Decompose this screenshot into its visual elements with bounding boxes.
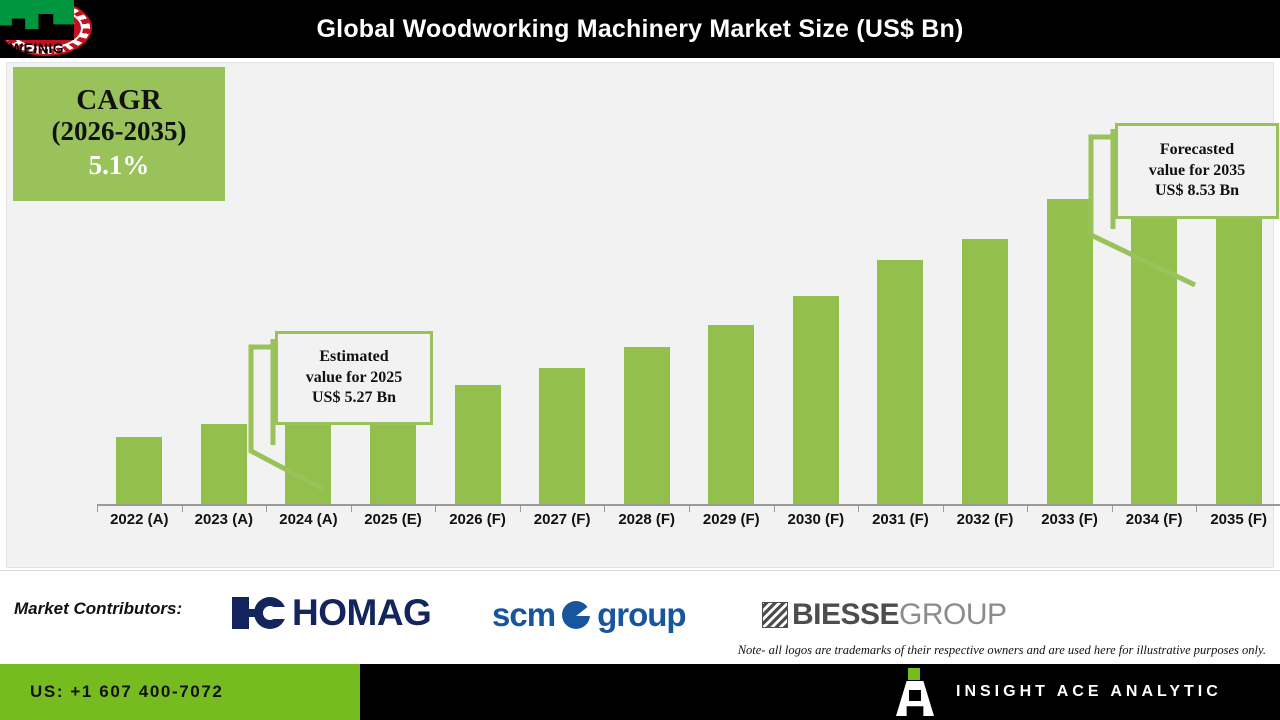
- x-label-2022: 2022 (A): [97, 511, 182, 528]
- weinig-mark-icon: [0, 0, 74, 40]
- callout-estimated-line1: Estimated: [319, 347, 388, 367]
- bar-slot: [266, 63, 351, 504]
- x-label-2027: 2027 (F): [520, 511, 605, 528]
- x-label-2023: 2023 (A): [182, 511, 267, 528]
- callout-forecasted-2035: Forecasted value for 2035 US$ 8.53 Bn: [1115, 123, 1279, 219]
- bar-series: [97, 63, 1280, 504]
- callout-forecasted-line3: US$ 8.53 Bn: [1155, 181, 1239, 201]
- bar-slot: [604, 63, 689, 504]
- footer-brand: INSIGHT ACE ANALYTIC: [956, 683, 1222, 701]
- x-label-2034: 2034 (F): [1112, 511, 1197, 528]
- homag-mark-icon: [232, 597, 286, 629]
- scm-pie-icon: [562, 601, 590, 629]
- x-label-2030: 2030 (F): [774, 511, 859, 528]
- x-label-2035: 2035 (F): [1196, 511, 1280, 528]
- bar-2030[interactable]: [793, 296, 839, 504]
- x-label-2033: 2033 (F): [1027, 511, 1112, 528]
- page-title: Global Woodworking Machinery Market Size…: [317, 15, 964, 44]
- biesse-hatch-icon: [762, 602, 788, 628]
- bar-2026[interactable]: [455, 385, 501, 504]
- insightace-logo-icon: [896, 668, 934, 716]
- bar-slot: [351, 63, 436, 504]
- callout-forecasted-line2: value for 2035: [1149, 161, 1246, 181]
- bar-slot: [858, 63, 943, 504]
- logo-biesse-group: BIESSE GROUP: [762, 597, 1007, 633]
- bar-slot: [182, 63, 267, 504]
- biesse-wordmark-1: BIESSE: [792, 598, 899, 632]
- callout-estimated-2025: Estimated value for 2025 US$ 5.27 Bn: [275, 331, 433, 425]
- bar-2023[interactable]: [201, 424, 247, 504]
- bar-slot: [774, 63, 859, 504]
- bar-slot: [97, 63, 182, 504]
- logo-scm-group: scm group: [492, 597, 686, 633]
- bar-2031[interactable]: [877, 260, 923, 505]
- market-contributors-strip: Market Contributors: HOMAG scm group BIE…: [0, 570, 1280, 662]
- bar-slot: [1027, 63, 1112, 504]
- x-label-2031: 2031 (F): [858, 511, 943, 528]
- logo-homag: HOMAG: [232, 593, 431, 633]
- bar-2027[interactable]: [539, 368, 585, 504]
- bar-slot: [520, 63, 605, 504]
- scm-wordmark-2: group: [597, 596, 685, 634]
- bar-2034[interactable]: [1131, 172, 1177, 504]
- footer-phone[interactable]: US: +1 607 400-7072: [30, 682, 223, 702]
- homag-wordmark: HOMAG: [292, 592, 431, 634]
- bar-2022[interactable]: [116, 437, 162, 504]
- x-label-2029: 2029 (F): [689, 511, 774, 528]
- chart-panel: CAGR (2026-2035) 5.1% 2022 (A)2023 (A)20…: [6, 62, 1274, 568]
- infographic-root: Global Woodworking Machinery Market Size…: [0, 0, 1280, 720]
- trademark-note: Note- all logos are trademarks of their …: [738, 643, 1266, 658]
- biesse-wordmark-2: GROUP: [899, 598, 1007, 632]
- footer-bar: US: +1 607 400-7072 INSIGHT ACE ANALYTIC: [0, 664, 1280, 720]
- contributors-label: Market Contributors:: [14, 599, 182, 619]
- bar-2032[interactable]: [962, 239, 1008, 504]
- x-label-2032: 2032 (F): [943, 511, 1028, 528]
- footer-phone-band[interactable]: US: +1 607 400-7072: [0, 664, 360, 720]
- weinig-wordmark: WEINIG: [0, 40, 74, 56]
- x-label-2024: 2024 (A): [266, 511, 351, 528]
- callout-estimated-line2: value for 2025: [306, 368, 403, 388]
- bar-2024[interactable]: [285, 414, 331, 504]
- x-axis-labels: 2022 (A)2023 (A)2024 (A)2025 (E)2026 (F)…: [97, 511, 1280, 541]
- bar-2029[interactable]: [708, 325, 754, 504]
- bar-slot: [943, 63, 1028, 504]
- footer-brand-band: INSIGHT ACE ANALYTIC: [360, 664, 1280, 720]
- callout-estimated-line3: US$ 5.27 Bn: [312, 388, 396, 408]
- bar-2028[interactable]: [624, 347, 670, 504]
- title-bar: Global Woodworking Machinery Market Size…: [0, 0, 1280, 58]
- callout-forecasted-line1: Forecasted: [1160, 140, 1234, 160]
- bar-slot: [689, 63, 774, 504]
- x-label-2028: 2028 (F): [604, 511, 689, 528]
- bar-2033[interactable]: [1047, 199, 1093, 504]
- plot-area: 2022 (A)2023 (A)2024 (A)2025 (E)2026 (F)…: [49, 63, 1237, 567]
- x-label-2026: 2026 (F): [435, 511, 520, 528]
- bar-slot: [435, 63, 520, 504]
- scm-wordmark-1: scm: [492, 596, 555, 634]
- x-label-2025: 2025 (E): [351, 511, 436, 528]
